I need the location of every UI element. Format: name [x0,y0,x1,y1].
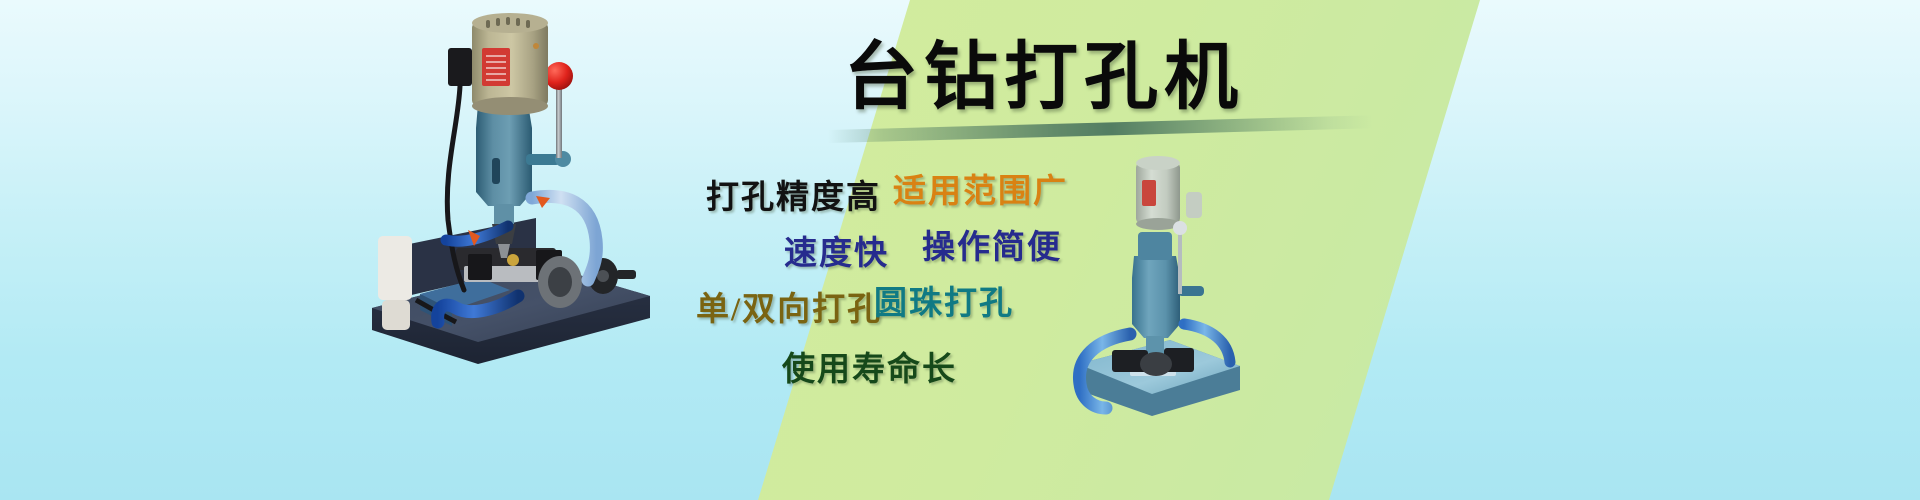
left-product-image [360,8,660,374]
feature-item-drill-precision: 打孔精度高 [706,180,881,216]
feature-list: 打孔精度高 适用范围广 速度快 操作简便 单/双向打孔 圆珠打孔 使用寿命长 [672,136,1092,436]
promo-banner: 台钻打孔机 打孔精度高 适用范围广 速度快 操作简便 单/双向打孔 圆珠打孔 使… [0,0,1920,500]
feature-item-easy-operation: 操作简便 [922,230,1062,266]
feature-item-single-dual-drill: 单/双向打孔 [696,292,882,328]
feature-item-wide-application: 适用范围广 [893,174,1068,210]
feature-item-long-lifespan: 使用寿命长 [782,352,957,388]
feature-item-bead-drilling: 圆珠打孔 [874,286,1014,322]
page-title: 台钻打孔机 [764,36,1324,120]
feature-item-fast-speed: 速度快 [784,236,889,272]
